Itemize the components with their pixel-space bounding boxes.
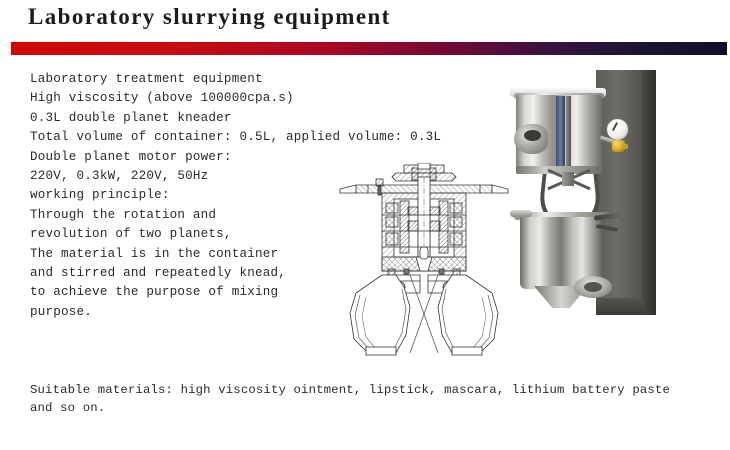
equipment-photo <box>510 62 656 315</box>
description-line: Total volume of container: 0.5L, applied… <box>30 128 360 147</box>
suitable-materials-note: Suitable materials: high viscosity ointm… <box>30 382 710 417</box>
bottom-note-line: Suitable materials: high viscosity ointm… <box>30 382 710 400</box>
brass-valve-handle <box>622 144 628 149</box>
description-line: Through the rotation and <box>30 206 360 225</box>
description-line: High viscosity (above 100000cpa.s) <box>30 89 360 108</box>
photo-base-shadow <box>596 298 644 315</box>
description-line: Double planet motor power: <box>30 148 360 167</box>
gradient-divider <box>11 42 727 55</box>
description-line: to achieve the purpose of mixing <box>30 283 360 302</box>
photo-hose-stripe <box>556 96 565 172</box>
kneader-diagram-svg <box>338 163 510 358</box>
photo-vessel-clamp <box>510 210 532 217</box>
description-text-block: Laboratory treatment equipment High visc… <box>30 70 360 322</box>
description-line: purpose. <box>30 303 360 322</box>
photo-blade-hub <box>562 172 574 186</box>
photo-side-port-opening <box>524 130 541 141</box>
description-line: and stirred and repeatedly knead, <box>30 264 360 283</box>
description-line: revolution of two planets, <box>30 225 360 244</box>
description-line: Laboratory treatment equipment <box>30 70 360 89</box>
photo-handwheel-hub <box>584 282 602 292</box>
slide-page: Laboratory slurrying equipment Laborator… <box>0 0 730 450</box>
description-line: 220V, 0.3kW, 220V, 50Hz <box>30 167 360 186</box>
description-line: 0.3L double planet kneader <box>30 109 360 128</box>
photo-shaft-stripe <box>566 96 571 172</box>
description-line: working principle: <box>30 186 360 205</box>
bottom-note-line: and so on. <box>30 400 710 418</box>
page-title: Laboratory slurrying equipment <box>28 4 391 30</box>
photo-cabinet-edge <box>642 70 656 315</box>
kneader-cross-section-diagram <box>338 163 510 358</box>
description-line: The material is in the container <box>30 245 360 264</box>
